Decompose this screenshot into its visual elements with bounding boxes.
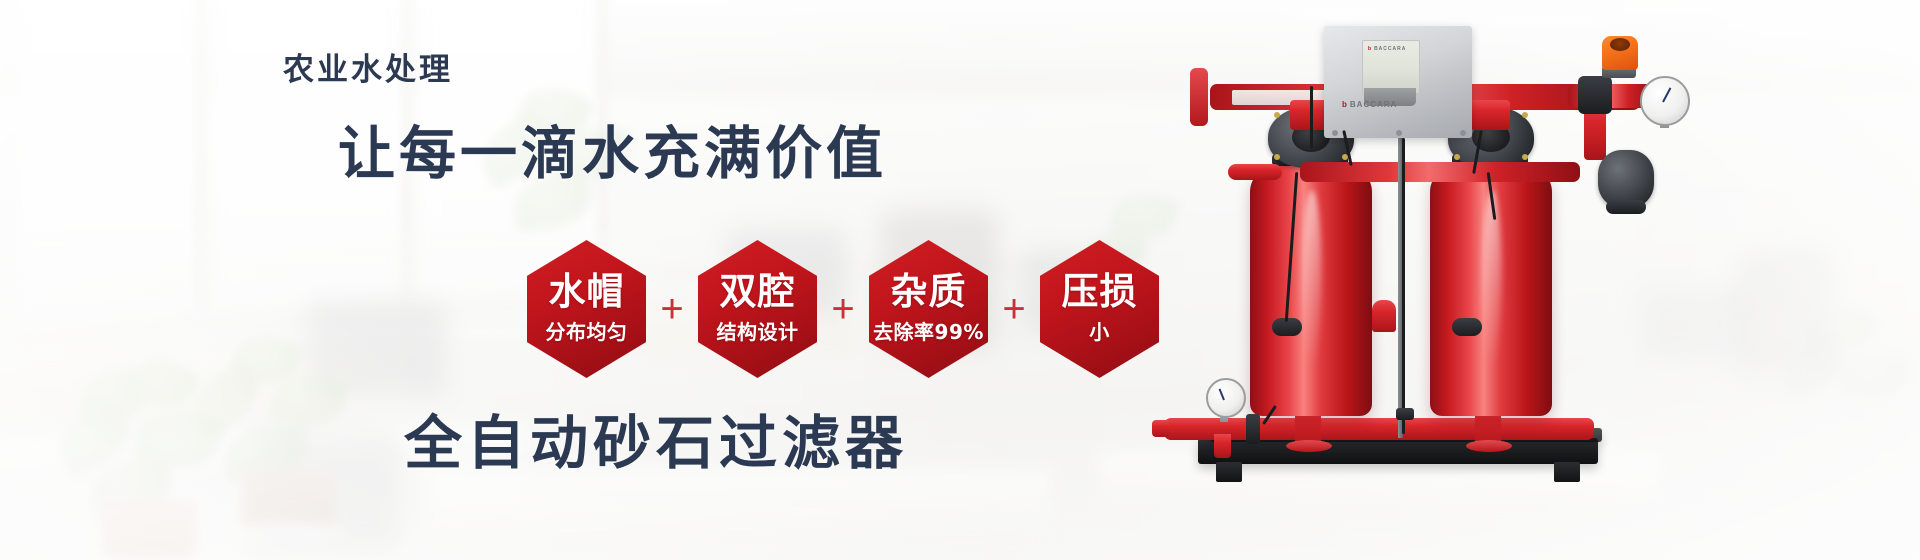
mid-pipe-stub-left xyxy=(1228,164,1282,180)
air-valve-opening xyxy=(1610,38,1630,51)
promo-banner: bBACCARA bBACCARA 农业水处理 让每一滴水充满价值 全自动砂石过… xyxy=(0,0,1920,560)
feature-subtitle-3: 去除率99% xyxy=(873,316,984,345)
controller-display-brand: bBACCARA xyxy=(1368,46,1406,52)
feature-subtitle-2: 结构设计 xyxy=(717,316,799,345)
feature-title-3: 杂质 xyxy=(891,273,967,311)
feature-badge-dual-chamber: 双腔 结构设计 xyxy=(698,240,817,378)
pressure-gauge-top xyxy=(1640,76,1690,126)
feature-badge-water-cap: 水帽 分布均匀 xyxy=(527,240,646,378)
controller-brand-label: bBACCARA xyxy=(1342,100,1397,109)
feature-title-1: 水帽 xyxy=(549,273,625,311)
tank-leg-flange-right xyxy=(1466,440,1512,452)
controller-bolt-2 xyxy=(1396,130,1402,136)
feature-title-2: 双腔 xyxy=(720,273,796,311)
feature-subtitle-4: 小 xyxy=(1089,316,1110,345)
tank-elbow-mid xyxy=(1372,300,1396,332)
right-valve-collar xyxy=(1606,200,1646,214)
lower-pipe-stub xyxy=(1152,420,1170,437)
valve-bolt-left-3 xyxy=(1274,154,1280,160)
mid-transfer-pipe xyxy=(1300,162,1580,182)
controller-brand-mark: b xyxy=(1342,100,1348,109)
cable-clamp-lower xyxy=(1246,414,1260,444)
control-cable-main xyxy=(1310,86,1313,148)
valve-bolt-right-2 xyxy=(1522,112,1528,118)
controller-display-brand-text: BACCARA xyxy=(1374,46,1406,52)
product-sand-filter: bBACCARA bBACCARA xyxy=(1150,0,1920,560)
plus-separator-2: + xyxy=(817,289,869,329)
control-cable-down xyxy=(1402,138,1405,434)
feature-title-4: 压损 xyxy=(1062,273,1138,311)
feature-badge-impurity: 杂质 去除率99% xyxy=(869,240,988,378)
banner-subheadline: 全自动砂石过滤器 xyxy=(404,396,908,480)
controller-bolt-1 xyxy=(1332,130,1338,136)
controller-bolt-3 xyxy=(1460,130,1466,136)
inlet-flange xyxy=(1190,68,1208,126)
plus-separator-1: + xyxy=(646,289,698,329)
banner-headline: 让每一滴水充满价值 xyxy=(338,108,887,190)
plus-separator-3: + xyxy=(988,289,1040,329)
filter-foot-left xyxy=(1216,462,1242,482)
feature-subtitle-1: 分布均匀 xyxy=(546,316,628,345)
valve-bolt-right-3 xyxy=(1454,154,1460,160)
cable-clamp-mid xyxy=(1396,408,1414,420)
controller-brand-text: BACCARA xyxy=(1350,100,1397,109)
valve-bolt-left-1 xyxy=(1274,112,1280,118)
filter-foot-right xyxy=(1554,462,1580,482)
banner-eyebrow: 农业水处理 xyxy=(283,44,453,89)
lower-pipe-drain xyxy=(1214,434,1231,458)
feature-badge-row: 水帽 分布均匀 + 双腔 结构设计 + 杂质 去除率99% + 压损 小 xyxy=(527,240,1159,378)
pressure-gauge-bottom xyxy=(1206,378,1246,418)
tank-left-highlight xyxy=(1302,190,1322,370)
feature-badge-pressure-loss: 压损 小 xyxy=(1040,240,1159,378)
tank-leg-flange-left xyxy=(1286,440,1332,452)
valve-bolt-right-4 xyxy=(1522,154,1528,160)
riser-collar xyxy=(1578,76,1612,114)
tank-port-right xyxy=(1452,318,1482,336)
top-tee-right xyxy=(1470,100,1510,130)
